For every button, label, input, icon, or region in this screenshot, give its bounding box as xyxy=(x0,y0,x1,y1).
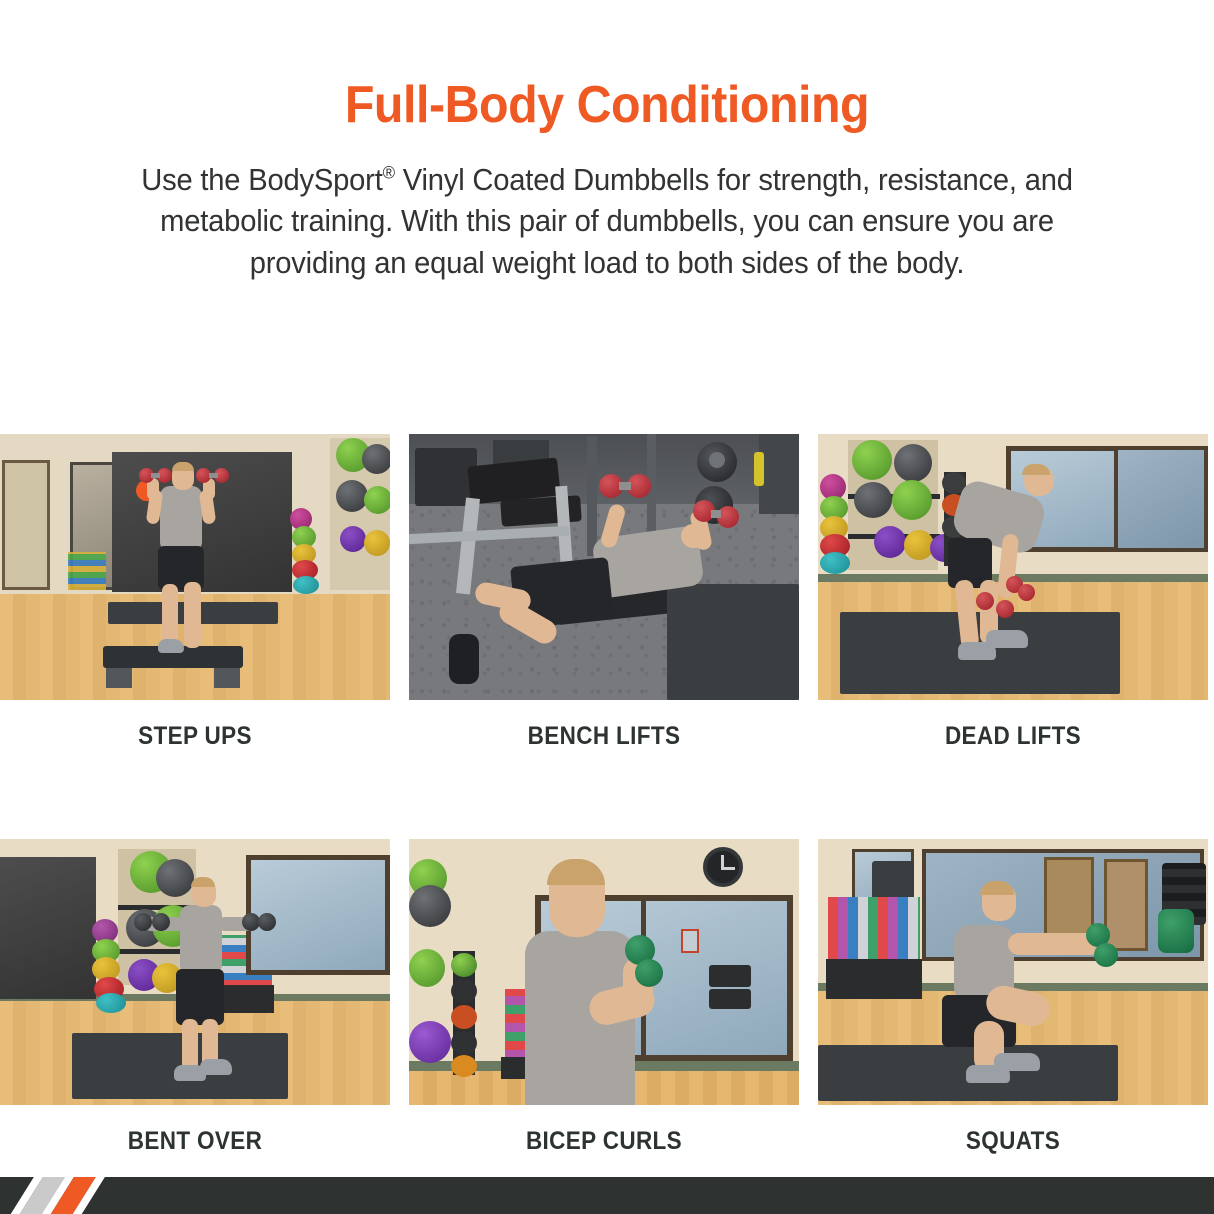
dumbbell-dark xyxy=(134,913,152,931)
page-title: Full-Body Conditioning xyxy=(42,78,1171,133)
exercise-card-squats[interactable]: SQUATS xyxy=(818,839,1208,1156)
exercise-row-1: STEP UPS xyxy=(0,434,1214,751)
exercise-photo-squats xyxy=(818,839,1208,1105)
footer-bar xyxy=(0,1177,1214,1214)
exercise-photo-bench-lifts xyxy=(409,434,799,700)
exercise-photo-bicep-curls xyxy=(409,839,799,1105)
infographic-page: Full-Body Conditioning Use the BodySport… xyxy=(0,0,1214,1214)
registered-trademark-symbol: ® xyxy=(383,162,395,182)
exercise-caption: SQUATS xyxy=(838,1127,1189,1156)
page-description: Use the BodySport® Vinyl Coated Dumbbell… xyxy=(109,159,1105,285)
exercise-card-bent-over[interactable]: BENT OVER xyxy=(0,839,390,1156)
exercise-photo-dead-lifts xyxy=(818,434,1208,700)
exercise-grid: STEP UPS xyxy=(0,434,1214,1156)
exercise-card-bench-lifts[interactable]: BENCH LIFTS xyxy=(409,434,799,751)
header: Full-Body Conditioning Use the BodySport… xyxy=(0,0,1214,284)
exercise-caption: BENCH LIFTS xyxy=(429,722,780,751)
exercise-photo-step-ups xyxy=(0,434,390,700)
exercise-caption: STEP UPS xyxy=(20,722,371,751)
exercise-caption: BENT OVER xyxy=(20,1127,371,1156)
exercise-card-step-ups[interactable]: STEP UPS xyxy=(0,434,390,751)
exercise-card-bicep-curls[interactable]: BICEP CURLS xyxy=(409,839,799,1156)
exercise-photo-bent-over xyxy=(0,839,390,1105)
exercise-row-2: BENT OVER xyxy=(0,839,1214,1156)
exercise-card-dead-lifts[interactable]: DEAD LIFTS xyxy=(818,434,1208,751)
exercise-caption: BICEP CURLS xyxy=(429,1127,780,1156)
dumbbell-red xyxy=(976,592,994,610)
description-part1: Use the BodySport xyxy=(141,162,382,197)
exercise-caption: DEAD LIFTS xyxy=(838,722,1189,751)
